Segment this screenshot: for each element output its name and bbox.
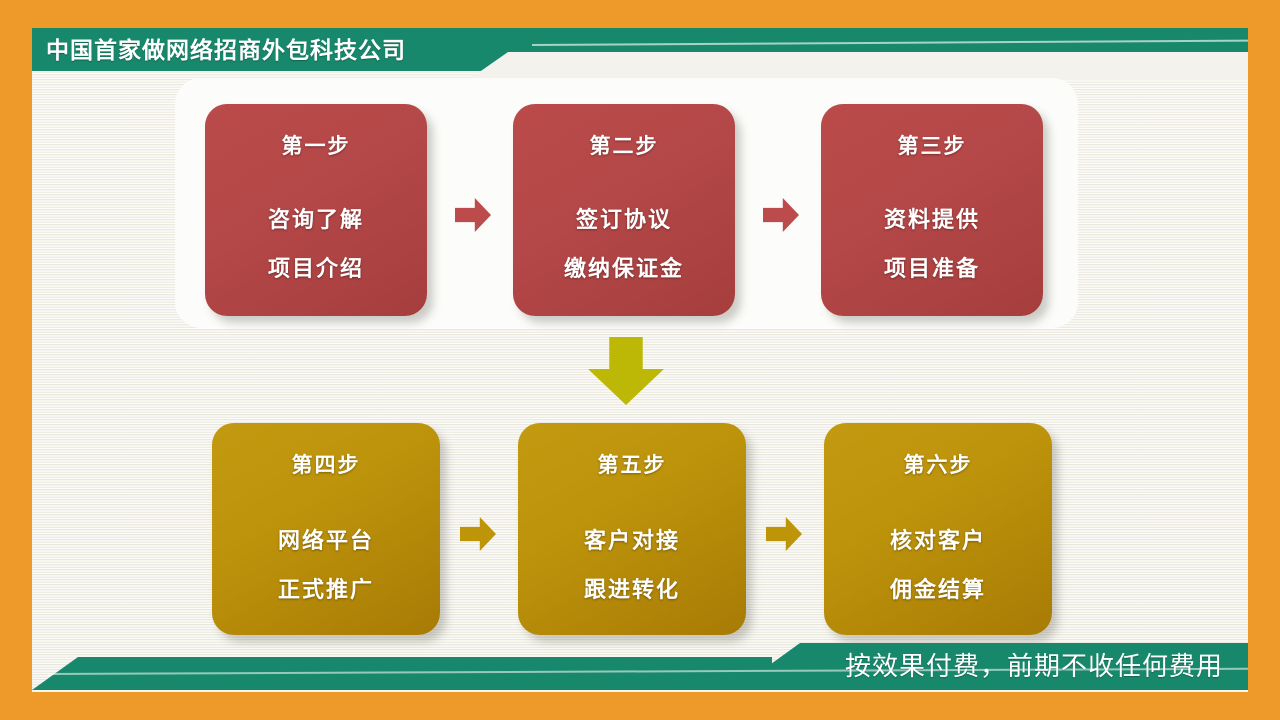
step-card-5-line1: 客户对接	[584, 523, 680, 555]
step-card-5-step: 第五步	[598, 449, 667, 479]
page-title: 中国首家做网络招商外包科技公司	[46, 36, 406, 64]
step-card-5[interactable]: 第五步 客户对接 跟进转化	[518, 423, 746, 635]
step-card-6-line2: 佣金结算	[890, 572, 986, 604]
step-card-3-step: 第三步	[898, 130, 967, 160]
step-card-3-line1: 资料提供	[884, 202, 980, 234]
step-card-4-line2: 正式推广	[278, 572, 374, 604]
step-card-5-line2: 跟进转化	[584, 572, 680, 604]
step-card-2-line2: 缴纳保证金	[564, 251, 684, 283]
header-slant-cut	[468, 52, 1248, 80]
step-card-2-step: 第二步	[590, 130, 659, 160]
slide-root: 中国首家做网络招商外包科技公司 第一步 咨询了解 项目介绍 第二步 签订协议 缴…	[0, 0, 1280, 720]
step-card-1[interactable]: 第一步 咨询了解 项目介绍	[205, 104, 427, 316]
step-card-6-step: 第六步	[904, 449, 973, 479]
step-card-4-line1: 网络平台	[278, 523, 374, 555]
arrow-right-icon-1	[455, 198, 491, 232]
step-card-6-line1: 核对客户	[890, 523, 986, 555]
footer-tagline: 按效果付费，前期不收任何费用	[845, 648, 1223, 684]
arrow-right-icon-2	[763, 198, 799, 232]
step-card-6[interactable]: 第六步 核对客户 佣金结算	[824, 423, 1052, 635]
step-card-1-step: 第一步	[282, 130, 351, 160]
step-card-1-line1: 咨询了解	[268, 202, 364, 234]
step-card-2[interactable]: 第二步 签订协议 缴纳保证金	[513, 104, 735, 316]
arrow-right-icon-3	[460, 517, 496, 551]
step-card-3-line2: 项目准备	[884, 251, 980, 283]
step-card-1-line2: 项目介绍	[268, 251, 364, 283]
step-card-4-step: 第四步	[292, 449, 361, 479]
step-card-4[interactable]: 第四步 网络平台 正式推广	[212, 423, 440, 635]
step-card-3[interactable]: 第三步 资料提供 项目准备	[821, 104, 1043, 316]
step-card-2-line1: 签订协议	[576, 202, 672, 234]
arrow-right-icon-4	[766, 517, 802, 551]
